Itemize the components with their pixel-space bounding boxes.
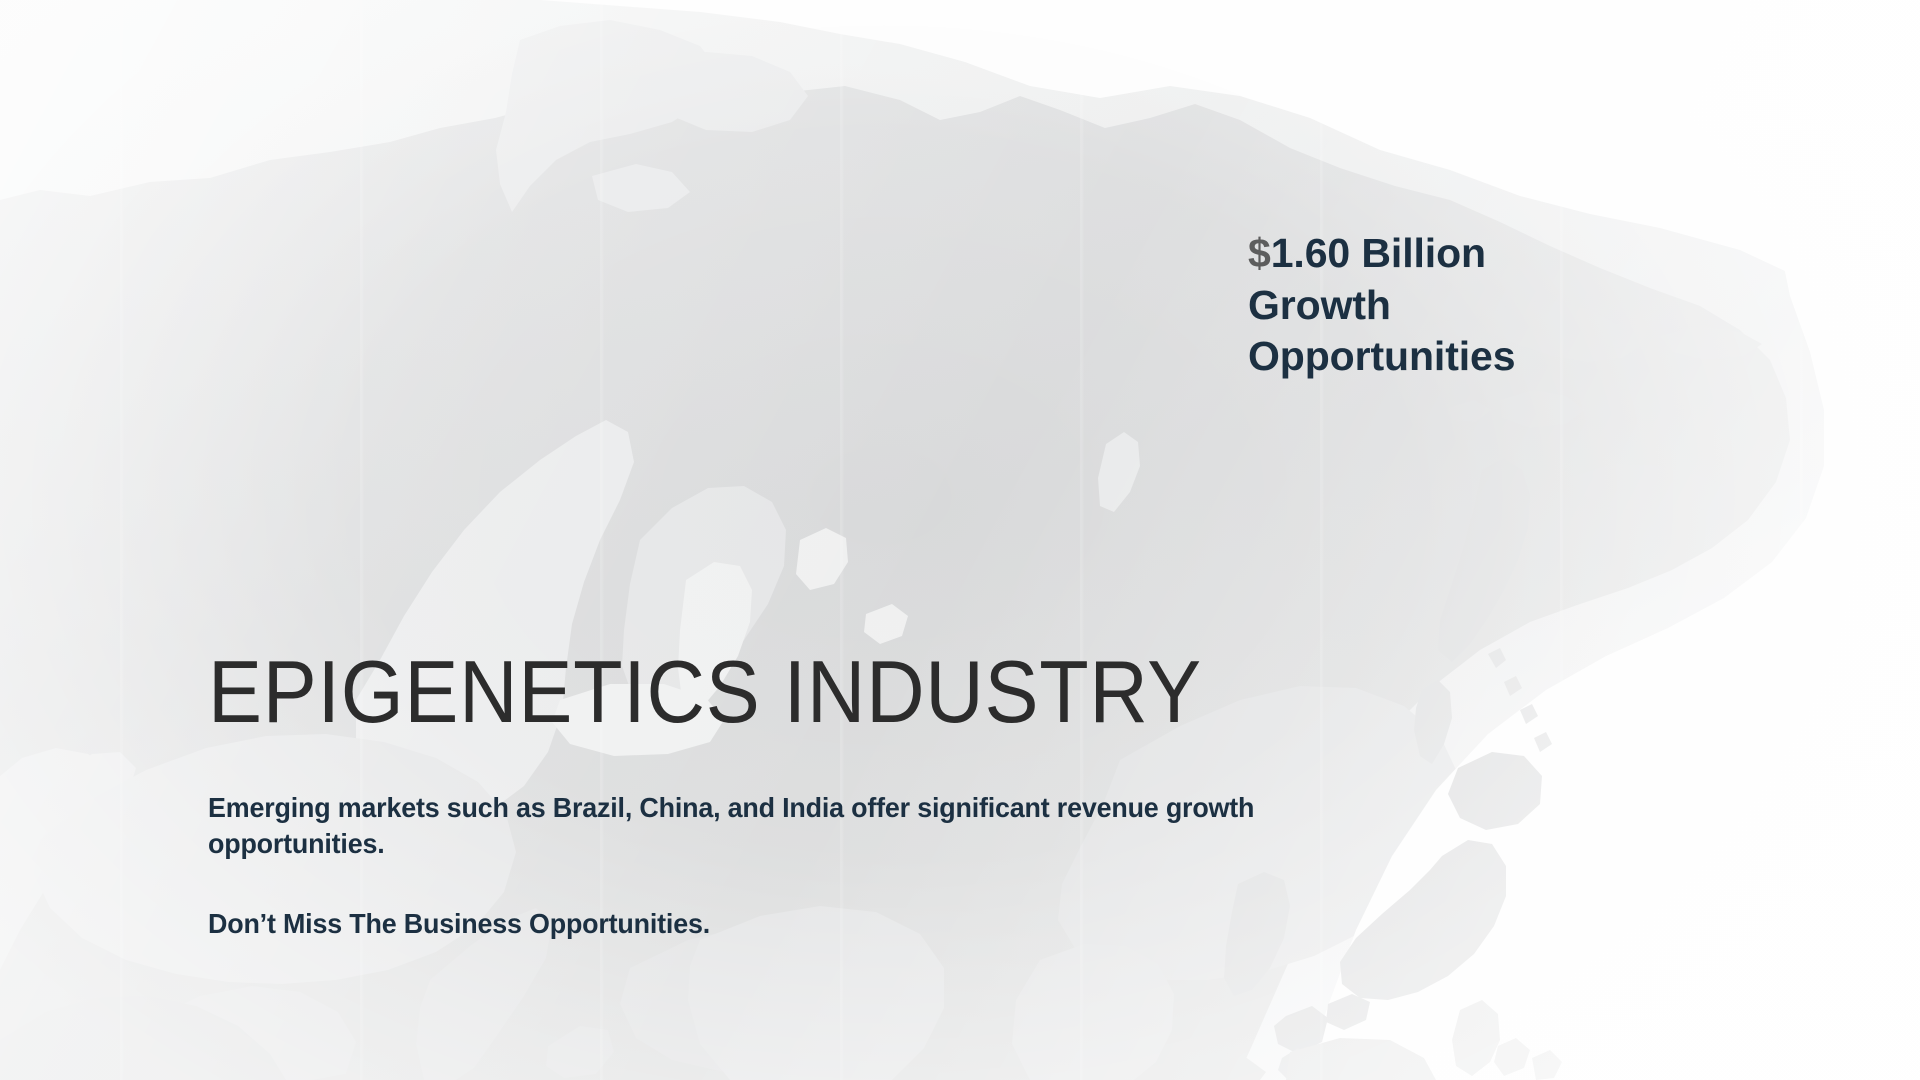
page-title: EPIGENETICS INDUSTRY xyxy=(208,648,1202,736)
slide-canvas: $1.60 Billion Growth Opportunities EPIGE… xyxy=(0,0,1920,1080)
callout-line-two: Growth xyxy=(1248,282,1391,328)
growth-opportunity-callout: $1.60 Billion Growth Opportunities xyxy=(1248,228,1608,383)
body-paragraph-two: Don’t Miss The Business Opportunities. xyxy=(208,906,1283,942)
body-paragraph-one: Emerging markets such as Brazil, China, … xyxy=(208,790,1283,862)
body-copy-block: Emerging markets such as Brazil, China, … xyxy=(208,790,1328,941)
callout-line-three: Opportunities xyxy=(1248,333,1515,379)
currency-symbol: $ xyxy=(1248,230,1271,276)
callout-amount: 1.60 Billion xyxy=(1271,230,1486,276)
